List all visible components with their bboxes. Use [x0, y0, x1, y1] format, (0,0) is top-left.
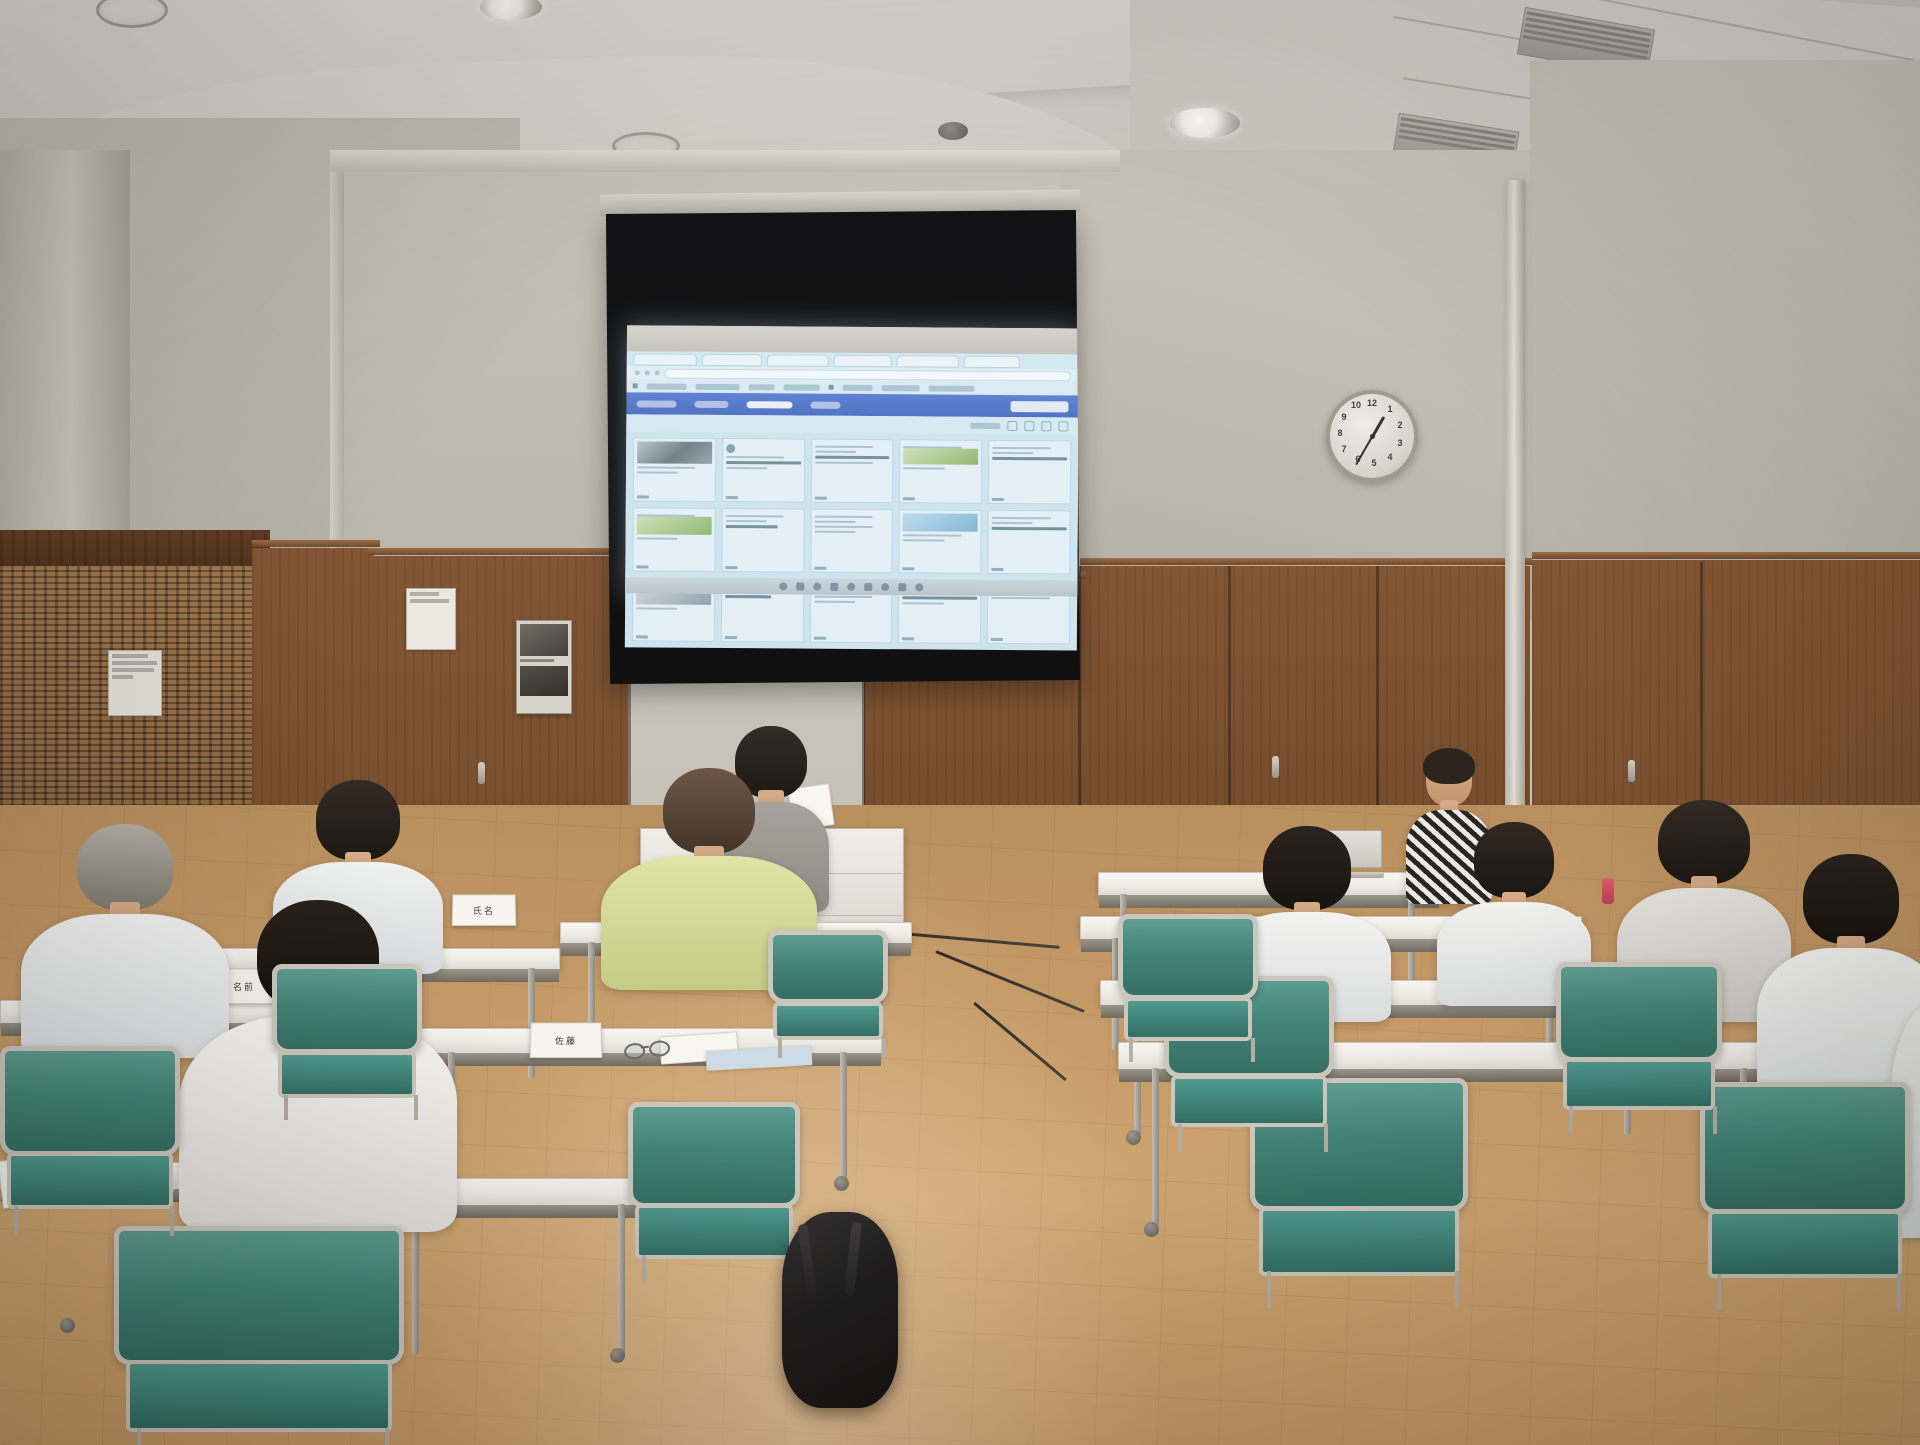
table-leg [840, 1052, 847, 1180]
seminar-room-photo: 12 1 2 3 4 5 6 7 8 9 10 [0, 0, 1920, 1445]
wall-poster [516, 620, 572, 714]
bookmark-item[interactable] [784, 384, 820, 390]
forward-icon[interactable] [645, 370, 650, 375]
browser-tab[interactable] [897, 355, 959, 367]
bookmark-item[interactable] [696, 383, 740, 389]
taskbar-app-icon[interactable] [847, 583, 855, 591]
ceiling-speaker [938, 122, 968, 140]
clock-numeral: 3 [1394, 438, 1406, 448]
wall-pillar-edge [330, 150, 344, 580]
clock-numeral: 8 [1334, 428, 1346, 438]
start-icon[interactable] [779, 582, 787, 590]
chair[interactable] [1700, 1082, 1910, 1310]
name-card: 佐藤 [530, 1022, 603, 1058]
table-leg [1152, 1068, 1159, 1226]
table-caster [60, 1318, 75, 1333]
os-taskbar[interactable] [625, 577, 1077, 596]
table-leg [618, 1204, 625, 1354]
nav-item[interactable] [694, 400, 728, 407]
table-caster [1144, 1222, 1159, 1237]
hair [1658, 800, 1750, 884]
table-caster [610, 1348, 625, 1363]
door-handle[interactable] [478, 762, 485, 784]
hair-grey [77, 824, 173, 910]
table-caster [834, 1176, 849, 1191]
wall-far-right [1530, 60, 1920, 620]
address-bar[interactable] [665, 368, 1071, 381]
bookmark-item[interactable] [843, 384, 873, 390]
name-card-text: 佐藤 [555, 1034, 577, 1047]
hair [663, 768, 755, 854]
browser-tab[interactable] [964, 355, 1020, 367]
hair [1474, 822, 1554, 898]
wood-trim [252, 540, 380, 547]
bookmark-item[interactable] [749, 384, 775, 390]
nav-primary-button[interactable] [1010, 401, 1068, 412]
clock-numeral: 1 [1384, 404, 1396, 414]
clock-numeral: 9 [1338, 412, 1350, 422]
toolbar-label [970, 422, 1000, 428]
browser-title-bar [627, 325, 1079, 354]
wood-trim [1532, 552, 1920, 559]
chair[interactable] [1556, 962, 1722, 1134]
content-card[interactable] [633, 437, 716, 502]
content-card[interactable] [810, 509, 893, 574]
wood-trim [368, 548, 630, 555]
clock-numeral: 12 [1366, 398, 1378, 408]
reload-icon[interactable] [655, 371, 660, 376]
clock-hub [1370, 434, 1375, 439]
content-card[interactable] [722, 438, 805, 503]
clock-numeral: 2 [1394, 420, 1406, 430]
taskbar-app-icon[interactable] [830, 583, 838, 591]
wood-trim [1080, 558, 1532, 565]
hair [1803, 854, 1899, 944]
door-handle[interactable] [1272, 756, 1279, 778]
door-handle[interactable] [1628, 760, 1635, 782]
wood-trim-left [0, 530, 270, 566]
bookmark-item[interactable] [929, 385, 975, 391]
bookmark-icon[interactable] [633, 383, 638, 388]
projector-screen [606, 210, 1080, 684]
chair[interactable] [272, 964, 422, 1120]
bookmark-item[interactable] [647, 383, 687, 389]
filter-icon[interactable] [1041, 421, 1051, 431]
nav-item[interactable] [810, 401, 840, 408]
chair[interactable] [0, 1046, 180, 1236]
site-nav-bar[interactable] [626, 392, 1078, 417]
bookmark-icon[interactable] [829, 385, 834, 390]
content-card[interactable] [899, 509, 982, 574]
taskbar-app-icon[interactable] [813, 583, 821, 591]
browser-tab[interactable] [633, 353, 697, 365]
nav-item[interactable] [636, 400, 676, 407]
ceiling-beam [330, 150, 1120, 172]
ceiling-downlight [1170, 108, 1240, 138]
chair[interactable] [114, 1226, 404, 1445]
taskbar-app-icon[interactable] [915, 583, 923, 591]
browser-tab[interactable] [702, 353, 762, 365]
chair[interactable] [1118, 914, 1258, 1062]
nav-item-active[interactable] [746, 401, 792, 408]
chair[interactable] [628, 1102, 800, 1284]
view-icon[interactable] [1007, 421, 1017, 431]
wood-seam [1376, 566, 1379, 846]
content-card[interactable] [988, 440, 1071, 505]
table-caster [1126, 1130, 1141, 1145]
backpack-strap [797, 1224, 817, 1295]
content-card[interactable] [810, 439, 893, 504]
wall-notice [108, 650, 162, 716]
clock-numeral: 10 [1350, 400, 1362, 410]
name-card-text: 氏名 [473, 904, 495, 917]
content-card-grid [625, 431, 1078, 650]
content-card[interactable] [632, 507, 715, 572]
back-icon[interactable] [635, 370, 640, 375]
wall-clock: 12 1 2 3 4 5 6 7 8 9 10 [1326, 390, 1418, 482]
browser-tab[interactable] [834, 354, 892, 366]
content-card[interactable] [721, 508, 804, 573]
wall-notice-sheet [406, 588, 456, 650]
taskbar-app-icon[interactable] [796, 583, 804, 591]
water-bottle[interactable] [1602, 878, 1614, 904]
content-card[interactable] [988, 510, 1071, 575]
projected-browser-window [625, 325, 1079, 596]
backpack-strap [844, 1222, 862, 1297]
name-card: 氏名 [452, 894, 517, 926]
chair[interactable] [768, 930, 888, 1058]
backpack[interactable] [782, 1212, 898, 1408]
hair [1423, 748, 1475, 784]
clock-numeral: 7 [1338, 444, 1350, 454]
taskbar-app-icon[interactable] [881, 583, 889, 591]
bookmark-item[interactable] [882, 385, 920, 391]
hair [316, 780, 400, 860]
settings-icon[interactable] [1058, 421, 1068, 431]
clock-numeral: 4 [1384, 452, 1396, 462]
browser-tab[interactable] [767, 354, 829, 366]
content-card[interactable] [899, 439, 982, 504]
sort-icon[interactable] [1024, 421, 1034, 431]
taskbar-app-icon[interactable] [864, 583, 872, 591]
taskbar-app-icon[interactable] [898, 583, 906, 591]
hair [1263, 826, 1351, 910]
clock-numeral: 5 [1368, 458, 1380, 468]
